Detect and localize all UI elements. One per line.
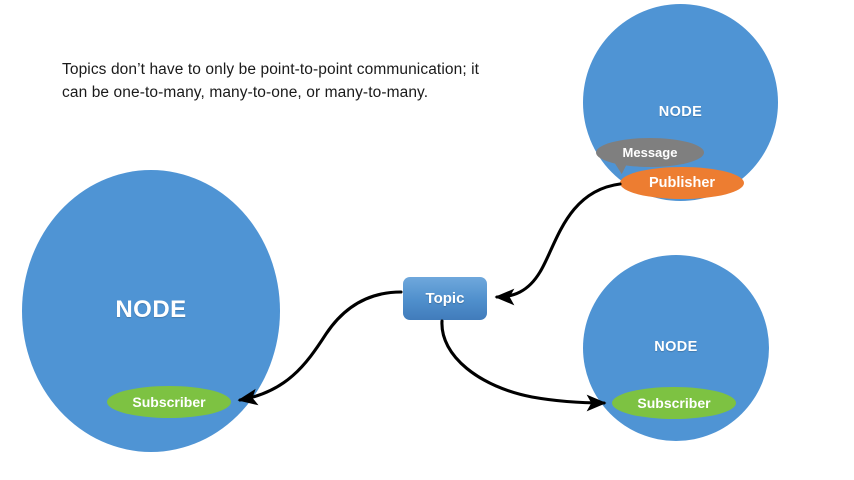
- diagram-canvas: Topics don’t have to only be point-to-po…: [0, 0, 854, 480]
- subscriber-badge-right: Subscriber: [612, 387, 736, 419]
- arrow-topic-to-right-subscriber: [442, 321, 604, 403]
- subscriber-label-left: Subscriber: [132, 394, 205, 410]
- arrow-publisher-to-topic: [497, 184, 620, 297]
- caption-text: Topics don’t have to only be point-to-po…: [62, 58, 482, 105]
- subscriber-label-right: Subscriber: [637, 395, 710, 411]
- node-label-top-right: NODE: [583, 104, 778, 120]
- message-label: Message: [623, 145, 678, 160]
- node-label-left: NODE: [22, 296, 280, 324]
- subscriber-badge-left: Subscriber: [107, 386, 231, 418]
- topic-box: Topic: [403, 277, 487, 320]
- message-bubble: Message: [596, 138, 704, 167]
- message-callout: Message: [596, 138, 704, 167]
- publisher-label: Publisher: [649, 175, 715, 191]
- topic-label: Topic: [426, 290, 465, 307]
- node-label-bottom-right: NODE: [583, 339, 769, 355]
- publisher-badge: Publisher: [620, 167, 744, 199]
